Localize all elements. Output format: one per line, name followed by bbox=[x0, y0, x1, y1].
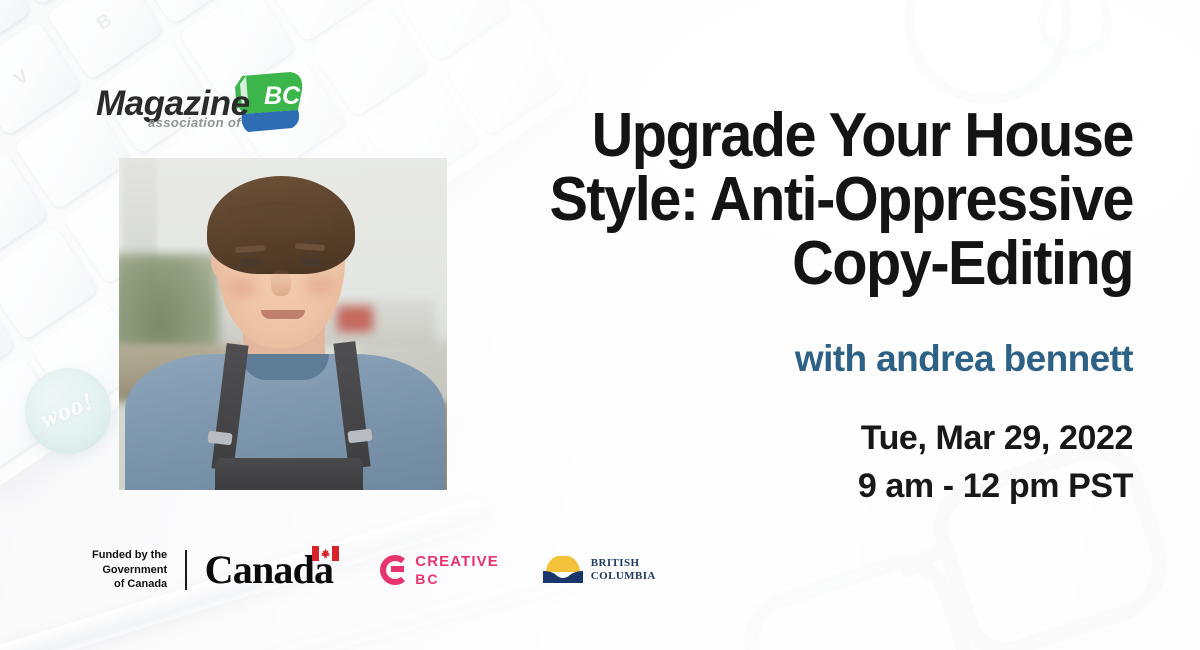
creative-bc-line-2: BC bbox=[415, 572, 499, 586]
funded-by-text: Funded by the Government of Canada bbox=[92, 548, 167, 592]
bc-sun-mountain-icon bbox=[543, 556, 583, 584]
creative-bc-label: CREATIVE BC bbox=[415, 554, 499, 586]
event-speaker: with andrea bennett bbox=[443, 338, 1133, 380]
event-datetime: Tue, Mar 29, 2022 9 am - 12 pm PST bbox=[443, 414, 1133, 511]
event-date: Tue, Mar 29, 2022 bbox=[443, 414, 1133, 462]
canada-wordmark: Canada bbox=[205, 550, 338, 590]
portrait-cheek-left bbox=[227, 278, 257, 298]
event-title-line-2: Style: Anti-Oppressive bbox=[491, 168, 1133, 232]
event-title-line-1: Upgrade Your House bbox=[491, 104, 1133, 168]
funder-logo-bar: Funded by the Government of Canada Canad… bbox=[92, 548, 656, 592]
creative-bc-logo: CREATIVE BC bbox=[377, 554, 499, 586]
event-title-line-3: Copy-Editing bbox=[491, 232, 1133, 296]
portrait-cheek-right bbox=[305, 276, 335, 296]
event-promo-banner: T Y U F G H J C V B N M bbox=[0, 0, 1200, 650]
british-columbia-government-logo: BRITISH COLUMBIA bbox=[543, 556, 656, 584]
mabc-logo-subtitle: association of bbox=[148, 115, 241, 130]
creative-bc-line-1: CREATIVE bbox=[415, 553, 499, 570]
funder-divider bbox=[185, 550, 187, 590]
event-title: Upgrade Your House Style: Anti-Oppressiv… bbox=[491, 104, 1133, 296]
portrait-collar bbox=[241, 354, 329, 380]
canada-flag-icon bbox=[312, 546, 339, 561]
portrait-eye-right bbox=[299, 257, 321, 266]
magazine-association-bc-logo: BC Magazine association of bbox=[96, 78, 308, 136]
event-time: 9 am - 12 pm PST bbox=[443, 462, 1133, 510]
portrait-eye-left bbox=[240, 258, 262, 267]
bc-gov-line-2: COLUMBIA bbox=[591, 570, 656, 583]
bc-gov-line-1: BRITISH bbox=[591, 557, 656, 570]
government-of-canada-logo: Funded by the Government of Canada Canad… bbox=[92, 548, 337, 592]
svg-text:BC: BC bbox=[264, 82, 301, 110]
portrait-nose bbox=[271, 270, 291, 296]
event-text-block: Upgrade Your House Style: Anti-Oppressiv… bbox=[443, 104, 1133, 510]
foreground-content: BC Magazine association of bbox=[0, 0, 1200, 650]
bc-government-label: BRITISH COLUMBIA bbox=[591, 557, 656, 583]
portrait-mouth bbox=[261, 310, 305, 319]
portrait-overall-bib bbox=[215, 458, 363, 490]
speaker-portrait-photo bbox=[119, 158, 447, 490]
portrait-background-red-object bbox=[337, 306, 373, 332]
creative-bc-mark-icon bbox=[377, 554, 407, 586]
portrait-fringe bbox=[223, 202, 333, 236]
